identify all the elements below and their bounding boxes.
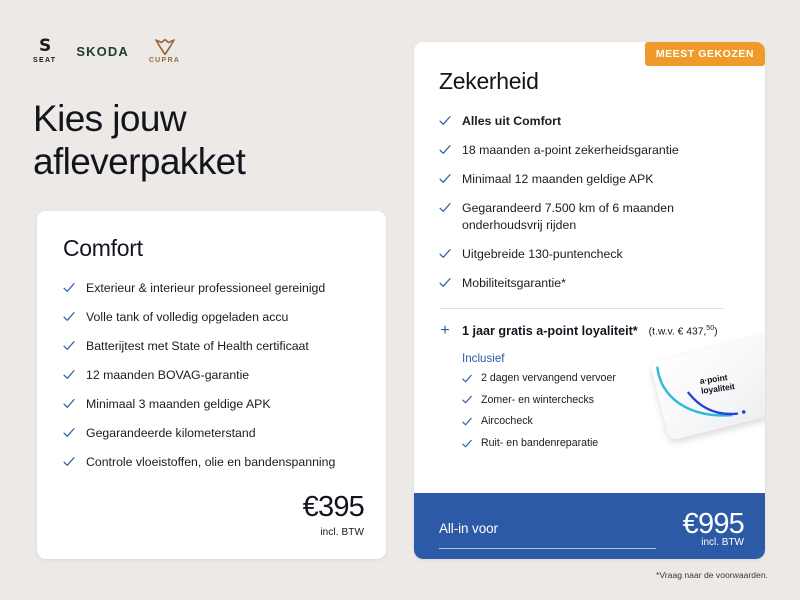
list-item-label: Controle vloeistoffen, olie en bandenspa…	[86, 454, 335, 471]
brand-seat: S SEAT	[33, 38, 56, 64]
cupra-wordmark: CUPRA	[149, 57, 180, 64]
seat-wordmark: SEAT	[33, 57, 56, 64]
list-item: Controle vloeistoffen, olie en bandenspa…	[63, 454, 348, 471]
list-item: Exterieur & interieur professioneel gere…	[63, 280, 348, 297]
list-item-label: Alles uit Comfort	[462, 113, 561, 130]
list-item-label: Zomer- en winterchecks	[481, 394, 594, 408]
list-item-label: Aircocheck	[481, 415, 533, 429]
list-item-label: Uitgebreide 130-puntencheck	[462, 246, 623, 263]
check-icon	[439, 115, 451, 127]
zekerheid-price-amount: €995	[683, 510, 744, 539]
list-item: Volle tank of volledig opgeladen accu	[63, 309, 348, 326]
loyalty-card-image: a·point loyaliteit	[650, 333, 765, 441]
list-item-label: Exterieur & interieur professioneel gere…	[86, 280, 325, 297]
check-icon	[63, 311, 75, 323]
list-item-label: 18 maanden a-point zekerheidsgarantie	[462, 142, 679, 159]
list-item: Gegarandeerde kilometerstand	[63, 425, 348, 442]
comfort-price-block: €395 incl. BTW	[303, 493, 364, 538]
check-icon	[439, 173, 451, 185]
list-item-label: Gegarandeerde kilometerstand	[86, 425, 256, 442]
zekerheid-price-footer: All-in voor €995 incl. BTW	[414, 493, 765, 559]
check-icon	[63, 282, 75, 294]
check-icon	[63, 369, 75, 381]
footer-rule	[439, 548, 656, 549]
check-icon	[462, 374, 472, 384]
check-icon	[63, 340, 75, 352]
list-item-label: Ruit- en bandenreparatie	[481, 437, 598, 451]
zekerheid-body: MEEST GEKOZEN Zekerheid Alles uit Comfor…	[414, 42, 765, 451]
list-item-label: Volle tank of volledig opgeladen accu	[86, 309, 288, 326]
zekerheid-price-note: incl. BTW	[701, 537, 744, 548]
check-icon	[439, 277, 451, 289]
zekerheid-title: Zekerheid	[439, 68, 745, 95]
list-item: Uitgebreide 130-puntencheck	[439, 246, 729, 263]
check-icon	[439, 202, 451, 214]
seat-logo-icon: S	[34, 38, 56, 55]
check-icon	[462, 417, 472, 427]
list-item: Mobiliteitsgarantie*	[439, 275, 729, 292]
list-item: Alles uit Comfort	[439, 113, 729, 130]
package-card-comfort[interactable]: Comfort Exterieur & interieur profession…	[37, 211, 386, 559]
list-item-label: Gegarandeerd 7.500 km of 6 maanden onder…	[462, 200, 729, 234]
list-item: Batterijtest met State of Health certifi…	[63, 338, 348, 355]
check-icon	[439, 144, 451, 156]
plus-icon: +	[439, 323, 451, 339]
loyalty-bonus-row: + 1 jaar gratis a-point loyaliteit* (t.w…	[439, 323, 745, 339]
list-item: 12 maanden BOVAG-garantie	[63, 367, 348, 384]
page-title: Kies jouw afleverpakket	[33, 97, 363, 184]
list-item-label: Minimaal 3 maanden geldige APK	[86, 396, 271, 413]
brand-skoda: SKODA	[76, 44, 128, 59]
loyalty-bonus-value: (t.w.v. € 437,50)	[649, 325, 718, 337]
list-item-label: Batterijtest met State of Health certifi…	[86, 338, 309, 355]
footer-label: All-in voor	[439, 521, 498, 536]
check-icon	[462, 395, 472, 405]
list-item-label: Mobiliteitsgarantie*	[462, 275, 566, 292]
comfort-feature-list: Exterieur & interieur professioneel gere…	[63, 280, 364, 471]
list-item: Minimaal 3 maanden geldige APK	[63, 396, 348, 413]
brand-cupra: CUPRA	[149, 39, 180, 64]
loyalty-bonus-label: 1 jaar gratis a-point loyaliteit*	[462, 324, 638, 338]
check-icon	[439, 248, 451, 260]
check-icon	[462, 439, 472, 449]
list-item-label: 12 maanden BOVAG-garantie	[86, 367, 249, 384]
list-item: Ruit- en bandenreparatie	[462, 437, 745, 451]
brand-logo-bar: S SEAT SKODA CUPRA	[33, 36, 180, 66]
cupra-logo-icon	[155, 39, 175, 55]
zekerheid-feature-list: Alles uit Comfort 18 maanden a-point zek…	[439, 113, 745, 292]
footer-row: All-in voor €995	[439, 493, 744, 539]
package-card-zekerheid[interactable]: MEEST GEKOZEN Zekerheid Alles uit Comfor…	[414, 42, 765, 559]
comfort-title: Comfort	[63, 235, 364, 262]
list-item-label: 2 dagen vervangend vervoer	[481, 372, 616, 386]
status-badge: MEEST GEKOZEN	[645, 42, 765, 66]
check-icon	[63, 398, 75, 410]
list-item-label: Minimaal 12 maanden geldige APK	[462, 171, 653, 188]
list-item: 18 maanden a-point zekerheidsgarantie	[439, 142, 729, 159]
skoda-logo-icon: SKODA	[76, 44, 128, 59]
check-icon	[63, 456, 75, 468]
check-icon	[63, 427, 75, 439]
list-item: Minimaal 12 maanden geldige APK	[439, 171, 729, 188]
disclaimer-text: *Vraag naar de voorwaarden.	[656, 570, 768, 580]
comfort-price-amount: €395	[303, 493, 364, 522]
inclusief-section: Inclusief 2 dagen vervangend vervoer Zom…	[462, 352, 745, 451]
section-divider	[439, 308, 724, 309]
comfort-price-note: incl. BTW	[303, 527, 364, 538]
list-item: Gegarandeerd 7.500 km of 6 maanden onder…	[439, 200, 729, 234]
